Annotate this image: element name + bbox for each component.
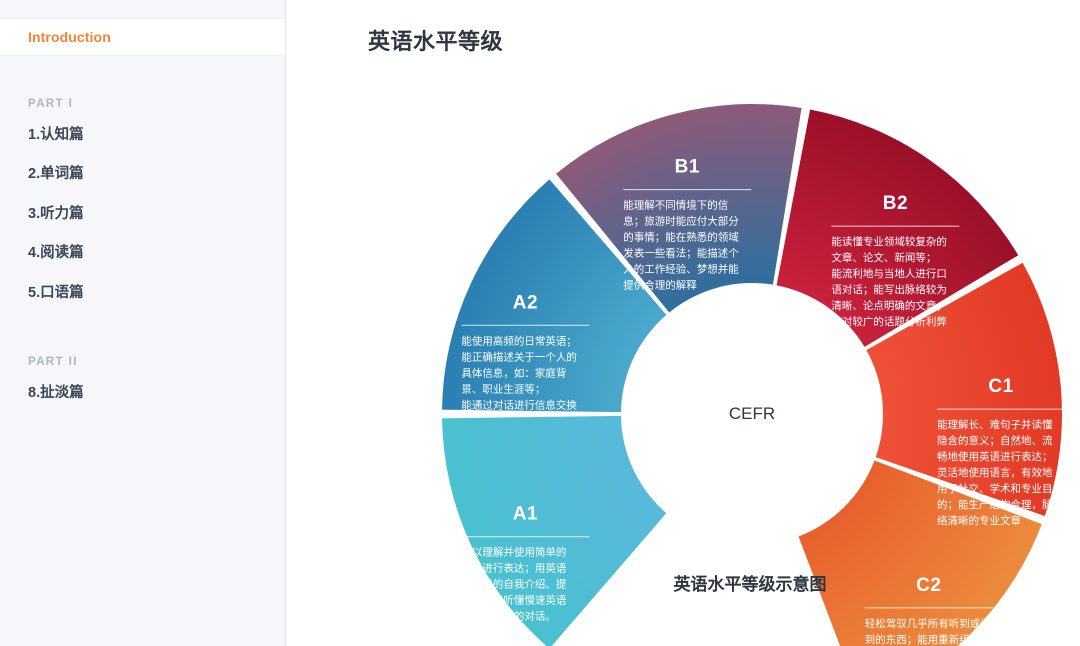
nav-item-3[interactable]: 3.听力篇 bbox=[28, 195, 257, 234]
segment-code-a1: A1 bbox=[513, 504, 538, 525]
nav-item-8[interactable]: 8.扯淡篇 bbox=[28, 374, 257, 413]
segment-code-b2: B2 bbox=[883, 193, 908, 214]
donut-svg: A1可以理解并使用简单的句子进行表达；用英语作简单的自我介绍、提问题；能听懂慢速… bbox=[286, 0, 1080, 646]
nav-item-5[interactable]: 5.口语篇 bbox=[28, 274, 257, 313]
chart-caption: 英语水平等级示意图 bbox=[674, 574, 827, 595]
nav-item-4[interactable]: 4.阅读篇 bbox=[28, 234, 257, 273]
donut-center-label: CEFR bbox=[729, 404, 775, 423]
app-root: Introduction PART I 1.认知篇 2.单词篇 3.听力篇 4.… bbox=[0, 0, 1080, 646]
cefr-donut-chart: A1可以理解并使用简单的句子进行表达；用英语作简单的自我介绍、提问题；能听懂慢速… bbox=[286, 0, 1080, 646]
main-content: 英语水平等级 A1可以理解并使用简单的句子进行表达；用英语作简单的自我介绍、提问… bbox=[286, 0, 1080, 646]
segment-description-a1: 可以理解并使用简单的句子进行表达；用英语作简单的自我介绍、提问题；能听懂慢速英语… bbox=[461, 546, 566, 623]
nav-item-1[interactable]: 1.认知篇 bbox=[28, 116, 257, 155]
sidebar-active-label: Introduction bbox=[28, 29, 111, 45]
segment-description-a2: 能使用高频的日常英语；能正确描述关于一个人的具体信息，如：家庭背景、职业生涯等；… bbox=[461, 334, 577, 411]
sidebar: Introduction PART I 1.认知篇 2.单词篇 3.听力篇 4.… bbox=[0, 0, 286, 646]
sidebar-item-introduction[interactable]: Introduction bbox=[0, 18, 285, 56]
segment-code-c2: C2 bbox=[916, 575, 941, 596]
nav-section-part-2-label: PART II bbox=[28, 356, 257, 368]
segment-code-c1: C1 bbox=[988, 376, 1013, 397]
nav-section-part-1-label: PART I bbox=[28, 98, 257, 110]
segment-description-c1: 能理解长、难句子并读懂隐含的意义；自然地、流畅地使用英语进行表达；灵活地使用语言… bbox=[937, 418, 1053, 527]
nav-item-2[interactable]: 2.单词篇 bbox=[28, 155, 257, 194]
segment-code-a2: A2 bbox=[513, 292, 538, 313]
segment-code-b1: B1 bbox=[675, 157, 700, 178]
sidebar-nav: PART I 1.认知篇 2.单词篇 3.听力篇 4.阅读篇 5.口语篇 PAR… bbox=[0, 98, 285, 413]
